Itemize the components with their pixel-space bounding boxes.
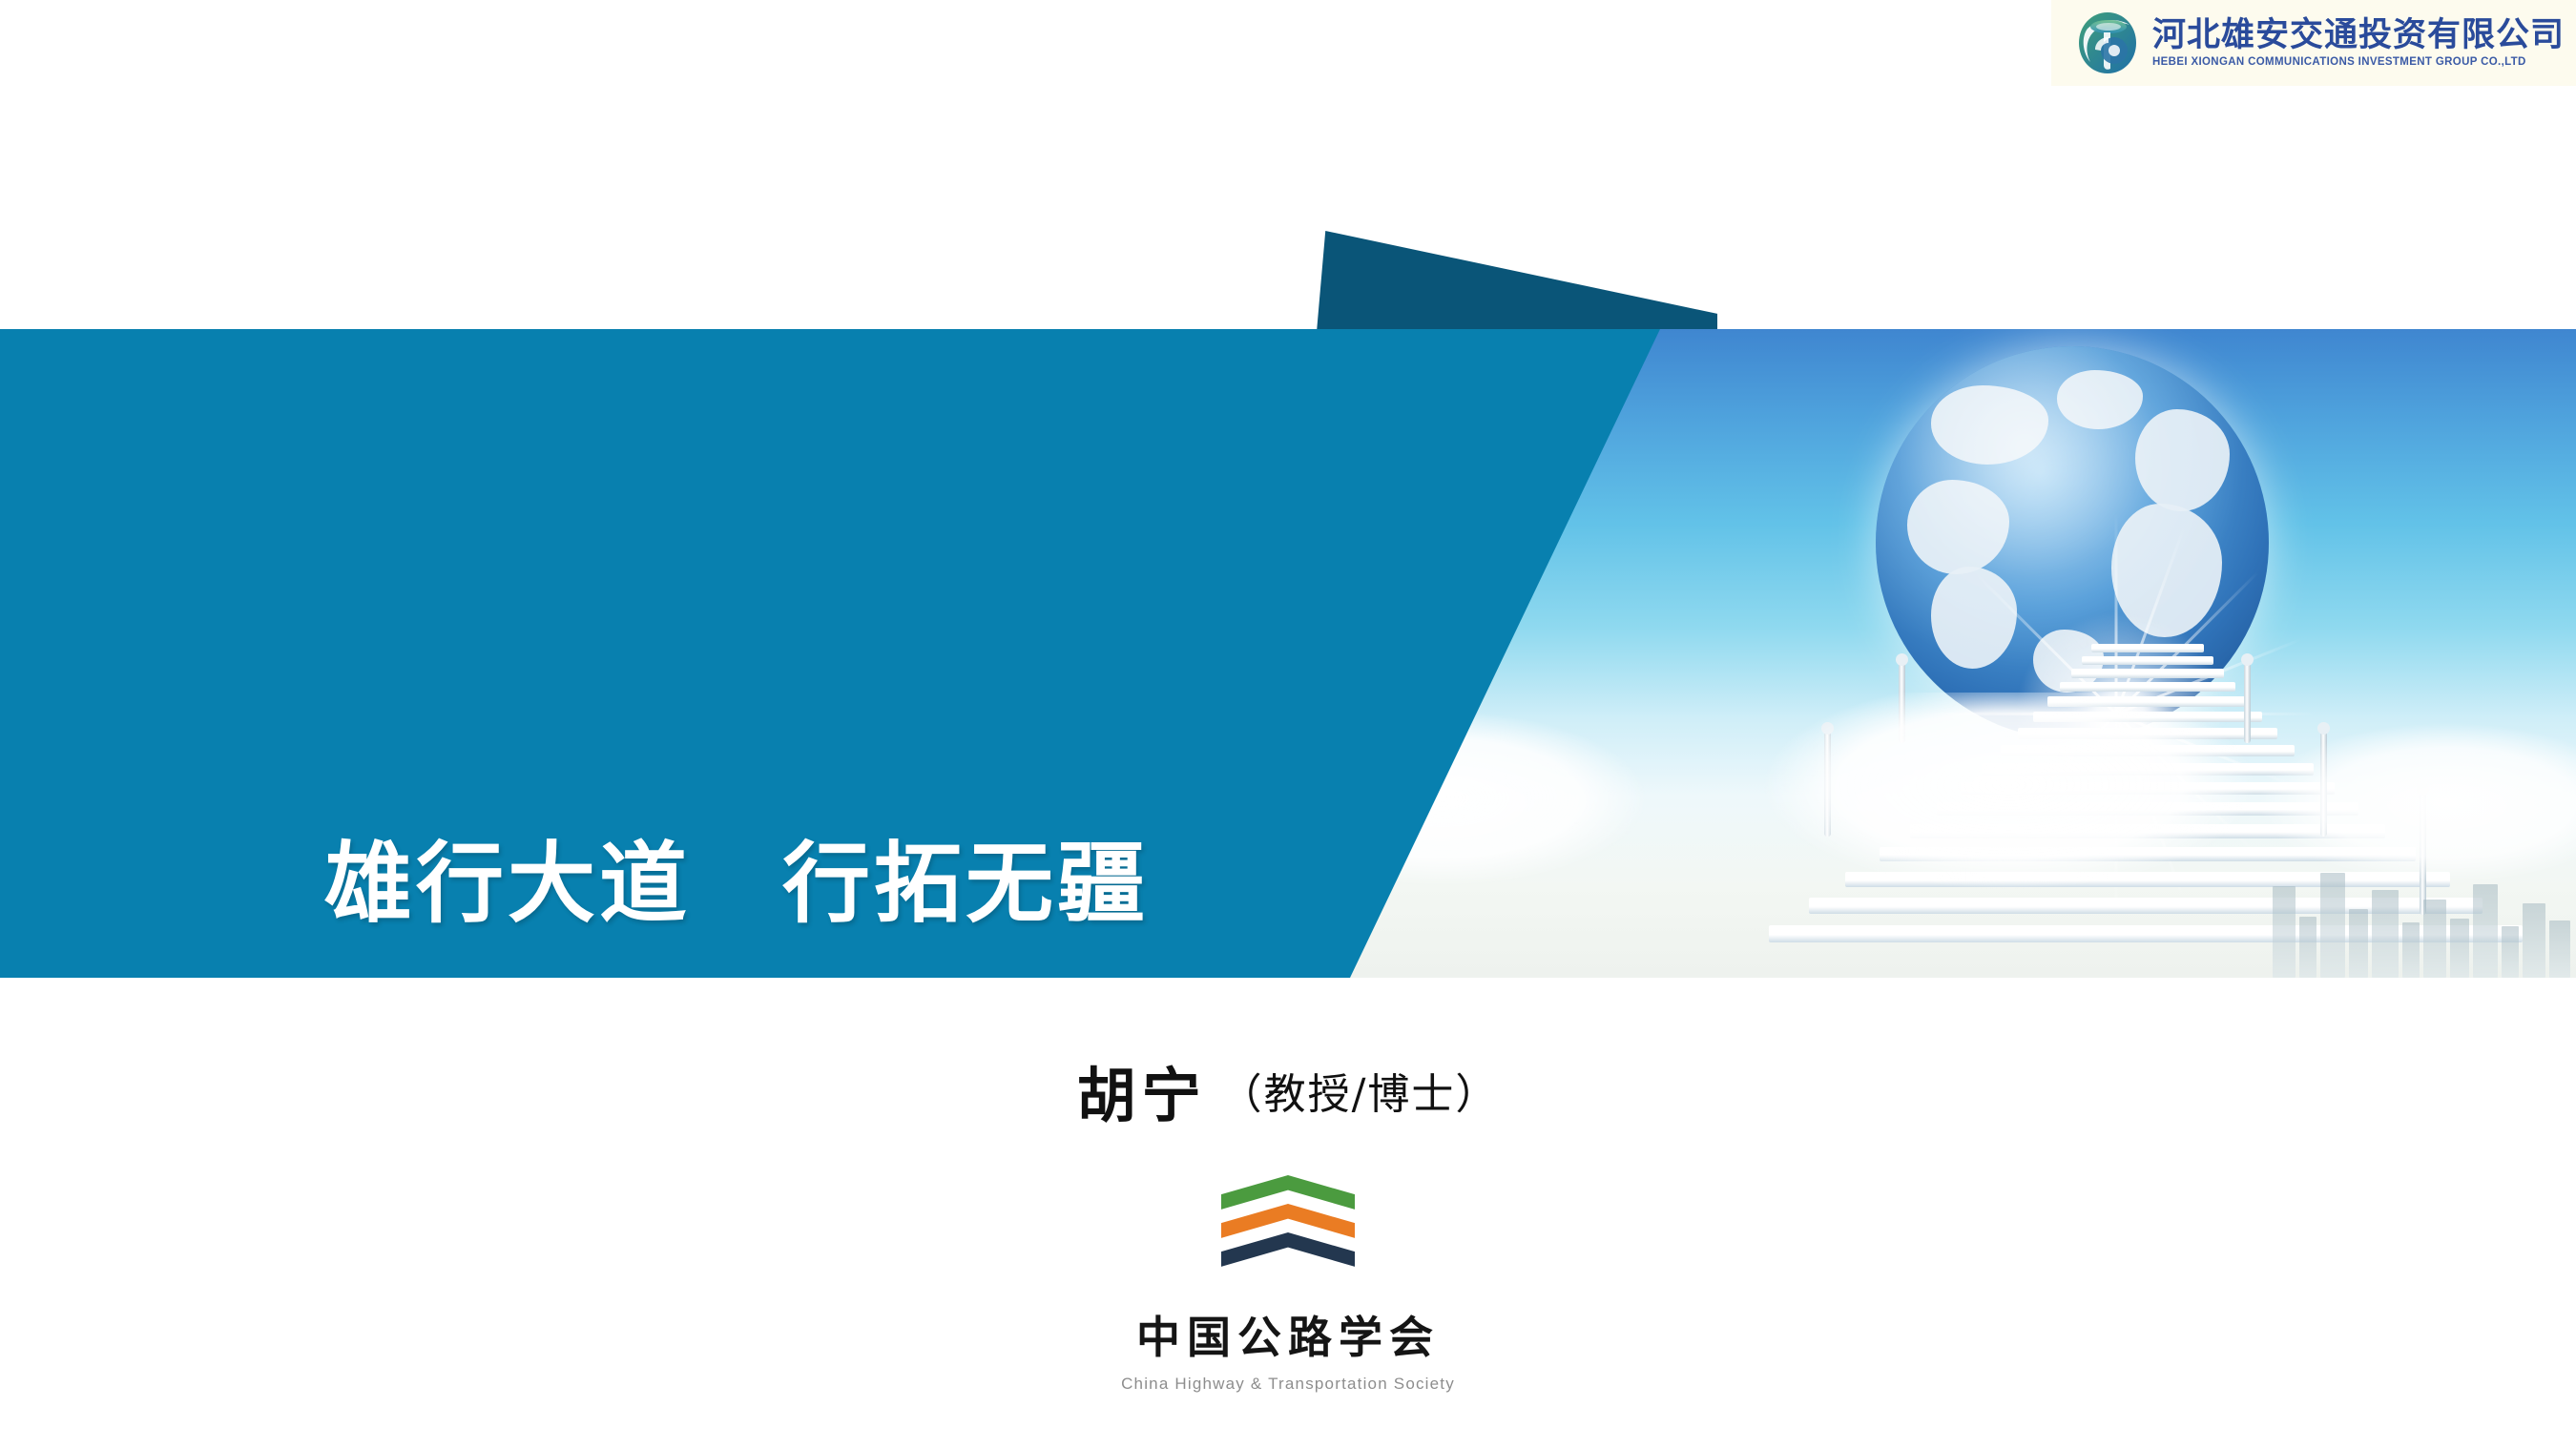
china-highway-society-chevron-mark-icon — [1221, 1175, 1355, 1301]
society-name-cn: 中国公路学会 — [1136, 1303, 1440, 1366]
society-name-en: China Highway & Transportation Society — [1121, 1375, 1455, 1394]
presentation-slide: 河北雄安交通投资有限公司 HEBEI XIONGAN COMMUNICATION… — [0, 0, 2576, 1448]
navy-angled-accent — [1317, 231, 1717, 332]
presenter-line: 胡宁（教授/博士） — [0, 1047, 2576, 1133]
corporate-name-en: HEBEI XIONGAN COMMUNICATIONS INVESTMENT … — [2152, 57, 2565, 69]
title-banner: 雄行大道 行拓无疆 ——雄安交投企业文化品牌解读与落地实施 — [0, 329, 2576, 978]
corporate-name-cn: 河北雄安交通投资有限公司 — [2152, 18, 2565, 52]
corporate-logo-text: 河北雄安交通投资有限公司 HEBEI XIONGAN COMMUNICATION… — [2152, 18, 2565, 69]
society-logo: 中国公路学会 China Highway & Transportation So… — [0, 1175, 2576, 1394]
hebei-xiongan-globe-mark-icon — [2072, 8, 2143, 78]
corporate-logo: 河北雄安交通投资有限公司 HEBEI XIONGAN COMMUNICATION… — [2051, 0, 2576, 86]
presenter-credential: （教授/博士） — [1220, 1070, 1500, 1119]
presenter-name: 胡宁 — [1077, 1061, 1207, 1130]
slide-title: 雄行大道 行拓无疆 — [324, 840, 1149, 928]
